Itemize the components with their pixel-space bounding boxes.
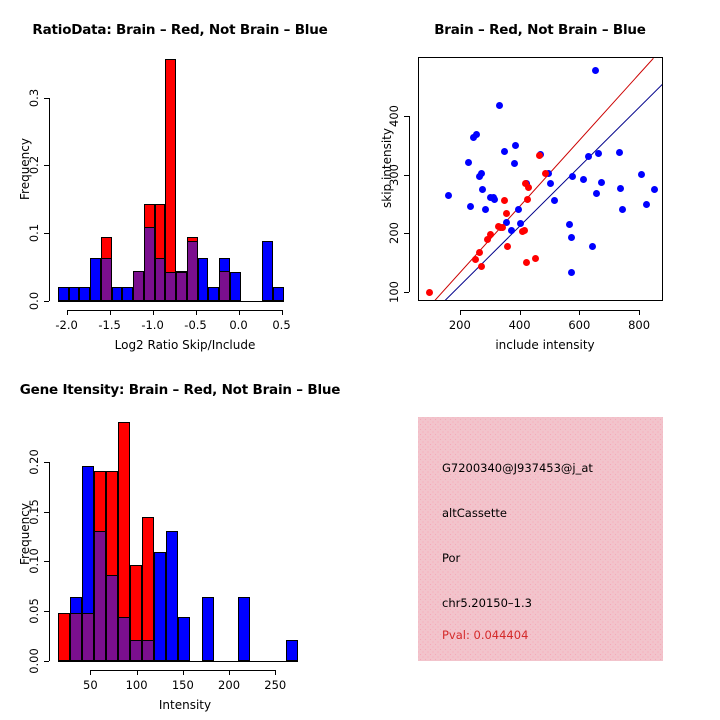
histogram-bar-overlap [142,640,154,661]
panel-gene-intensity-histogram: Gene Itensity: Brain – Red, Not Brain – … [0,360,360,720]
histogram-bar-overlap [155,258,166,301]
gene-bars-layer [0,360,360,720]
scatter-point-blue [445,192,452,199]
x-axis-tick [183,670,184,675]
scatter-y-axis-line [409,116,410,292]
histogram-bar-overlap [118,617,130,661]
scatter-point-blue [568,234,575,241]
histogram-bar-overlap [70,613,82,661]
histogram-bar-blue [178,617,190,661]
y-axis-tick [44,561,49,562]
x-tick-label: 250 [264,678,286,692]
gene-info-box: G7200340@J937453@j_at altCassette Por ch… [418,417,663,661]
y-axis-tick [44,165,49,166]
histogram-bar-blue [112,287,123,301]
scatter-point-red [487,231,494,238]
scatter-point-blue [467,203,474,210]
scatter-point-blue [491,196,498,203]
histogram-bar-blue [273,287,284,301]
y-tick-label: 0.2 [27,156,41,174]
scatter-point-red [521,227,528,234]
scatter-fit-line [443,83,662,300]
histogram-bar-blue [90,258,101,301]
y-tick-label: 0.0 [27,292,41,310]
scatter-point-blue [598,179,605,186]
x-tick-label: -1.5 [98,318,120,332]
scatter-point-blue [643,201,650,208]
scatter-point-blue [551,197,558,204]
scatter-point-red [426,289,433,296]
plot-baseline [58,661,298,662]
scatter-point-red [536,152,543,159]
y-axis-tick [44,611,49,612]
y-tick-label: 0.3 [27,89,41,107]
scatter-point-blue [566,221,573,228]
scatter-point-blue [589,243,596,250]
histogram-bar-overlap [94,531,106,661]
x-tick-label: 100 [126,678,148,692]
scatter-x-tick-label: 400 [509,318,531,332]
histogram-bar-overlap [106,575,118,661]
scatter-x-axis-tick [460,310,461,315]
ratio-bars-layer [0,0,360,360]
scatter-data-area [419,58,662,300]
x-axis-tick [90,670,91,675]
scatter-point-red [525,184,532,191]
x-tick-label: 0.0 [229,318,247,332]
y-axis-tick [44,98,49,99]
y-tick-label: 0.20 [27,449,41,475]
scatter-point-blue [547,180,554,187]
histogram-bar-overlap [130,640,142,661]
scatter-point-blue [619,206,626,213]
x-axis-tick [239,310,240,315]
panel-intensity-scatter: Brain – Red, Not Brain – Blue skip inten… [360,0,720,360]
scatter-fit-line [433,58,654,300]
histogram-bar-overlap [101,258,112,301]
x-axis-line [67,310,282,311]
x-tick-label: -2.0 [55,318,77,332]
panel-ratio-histogram: RatioData: Brain – Red, Not Brain – Blue… [0,0,360,360]
scatter-point-blue [593,190,600,197]
scatter-point-red [524,196,531,203]
scatter-x-axis-tick [579,310,580,315]
probe-id-text: G7200340@J937453@j_at [442,461,593,475]
scatter-point-blue [592,67,599,74]
scatter-x-axis-tick [639,310,640,315]
locus-text: chr5.20150–1.3 [442,596,532,610]
y-axis-tick [44,462,49,463]
scatter-x-axis-line [460,310,639,311]
x-axis-tick [196,310,197,315]
histogram-bar-blue [166,531,178,661]
scatter-point-red [476,249,483,256]
y-tick-label: 0.15 [27,499,41,525]
scatter-x-tick-label: 600 [568,318,590,332]
region-text: Por [442,551,460,565]
scatter-point-blue [478,170,485,177]
histogram-bar-blue [208,287,219,301]
histogram-bar-overlap [187,241,198,301]
scatter-point-blue [479,186,486,193]
scatter-point-red [478,263,485,270]
histogram-bar-blue [202,597,214,661]
scatter-y-axis-tick [404,292,409,293]
scatter-point-blue [617,185,624,192]
histogram-bar-overlap [133,271,144,302]
y-axis-tick [44,233,49,234]
histogram-bar-overlap [219,271,230,302]
y-axis-line [49,462,50,661]
scatter-point-blue [512,142,519,149]
scatter-point-blue [580,176,587,183]
histogram-bar-blue [122,287,133,301]
scatter-point-blue [651,186,658,193]
scatter-point-red [503,210,510,217]
scatter-y-tick-label: 200 [387,222,401,244]
scatter-x-tick-label: 200 [449,318,471,332]
pvalue-text: Pval: 0.044404 [442,628,528,642]
scatter-point-blue [638,171,645,178]
x-axis-tick [275,670,276,675]
scatter-y-axis-tick [404,175,409,176]
scatter-point-red [532,255,539,262]
scatter-y-axis-tick [404,233,409,234]
y-axis-line [49,98,50,301]
histogram-bar-overlap [176,272,187,301]
x-tick-label: -1.0 [141,318,163,332]
histogram-bar-blue [262,241,273,301]
scatter-x-tick-label: 800 [628,318,650,332]
x-tick-label: -0.5 [184,318,206,332]
scatter-point-blue [473,131,480,138]
scatter-point-blue [585,153,592,160]
y-tick-label: 0.1 [27,224,41,242]
scatter-point-blue [595,150,602,157]
histogram-bar-blue [79,287,90,301]
histogram-bar-red [165,59,176,301]
x-axis-tick [67,310,68,315]
scatter-point-blue [517,220,524,227]
x-axis-tick [137,670,138,675]
scatter-point-red [499,224,506,231]
scatter-point-red [523,259,530,266]
histogram-bar-overlap [144,227,155,301]
x-tick-label: 150 [172,678,194,692]
scatter-point-blue [569,173,576,180]
scatter-point-blue [501,148,508,155]
scatter-x-axis-tick [520,310,521,315]
scatter-point-blue [508,227,515,234]
x-axis-tick [282,310,283,315]
scatter-y-tick-label: 300 [387,164,401,186]
plot-page: RatioData: Brain – Red, Not Brain – Blue… [0,0,720,720]
x-tick-label: 50 [83,678,98,692]
panel-gene-info: G7200340@J937453@j_at altCassette Por ch… [360,360,720,720]
scatter-y-tick-label: 100 [387,281,401,303]
y-axis-tick [44,661,49,662]
scatter-point-blue [515,206,522,213]
plot-baseline [58,301,284,302]
histogram-bar-blue [238,597,250,661]
x-tick-label: 200 [218,678,240,692]
x-axis-tick [110,310,111,315]
x-axis-tick [153,310,154,315]
y-tick-label: 0.10 [27,549,41,575]
histogram-bar-blue [198,258,209,301]
x-axis-tick [229,670,230,675]
scatter-point-red [472,256,479,263]
histogram-bar-blue [286,640,298,661]
scatter-point-red [504,243,511,250]
scatter-panel-title: Brain – Red, Not Brain – Blue [360,22,720,38]
scatter-y-tick-label: 400 [387,105,401,127]
scatter-point-blue [482,206,489,213]
y-axis-tick [44,301,49,302]
scatter-point-red [501,197,508,204]
scatter-point-blue [568,269,575,276]
histogram-bar-blue [69,287,80,301]
histogram-bar-red [58,613,70,661]
y-tick-label: 0.00 [27,648,41,674]
scatter-point-blue [511,160,518,167]
x-tick-label: 0.5 [272,318,290,332]
scatter-plot-frame [418,57,663,301]
event-type-text: altCassette [442,506,507,520]
scatter-point-blue [496,102,503,109]
scatter-point-blue [465,159,472,166]
scatter-x-axis-title: include intensity [420,338,670,352]
scatter-y-axis-tick [404,116,409,117]
histogram-bar-blue [230,272,241,301]
histogram-bar-blue [58,287,69,301]
histogram-bar-blue [154,552,166,661]
scatter-point-blue [616,149,623,156]
histogram-bar-overlap [82,613,94,661]
y-axis-tick [44,512,49,513]
y-tick-label: 0.05 [27,598,41,624]
histogram-bar-overlap [165,272,176,301]
